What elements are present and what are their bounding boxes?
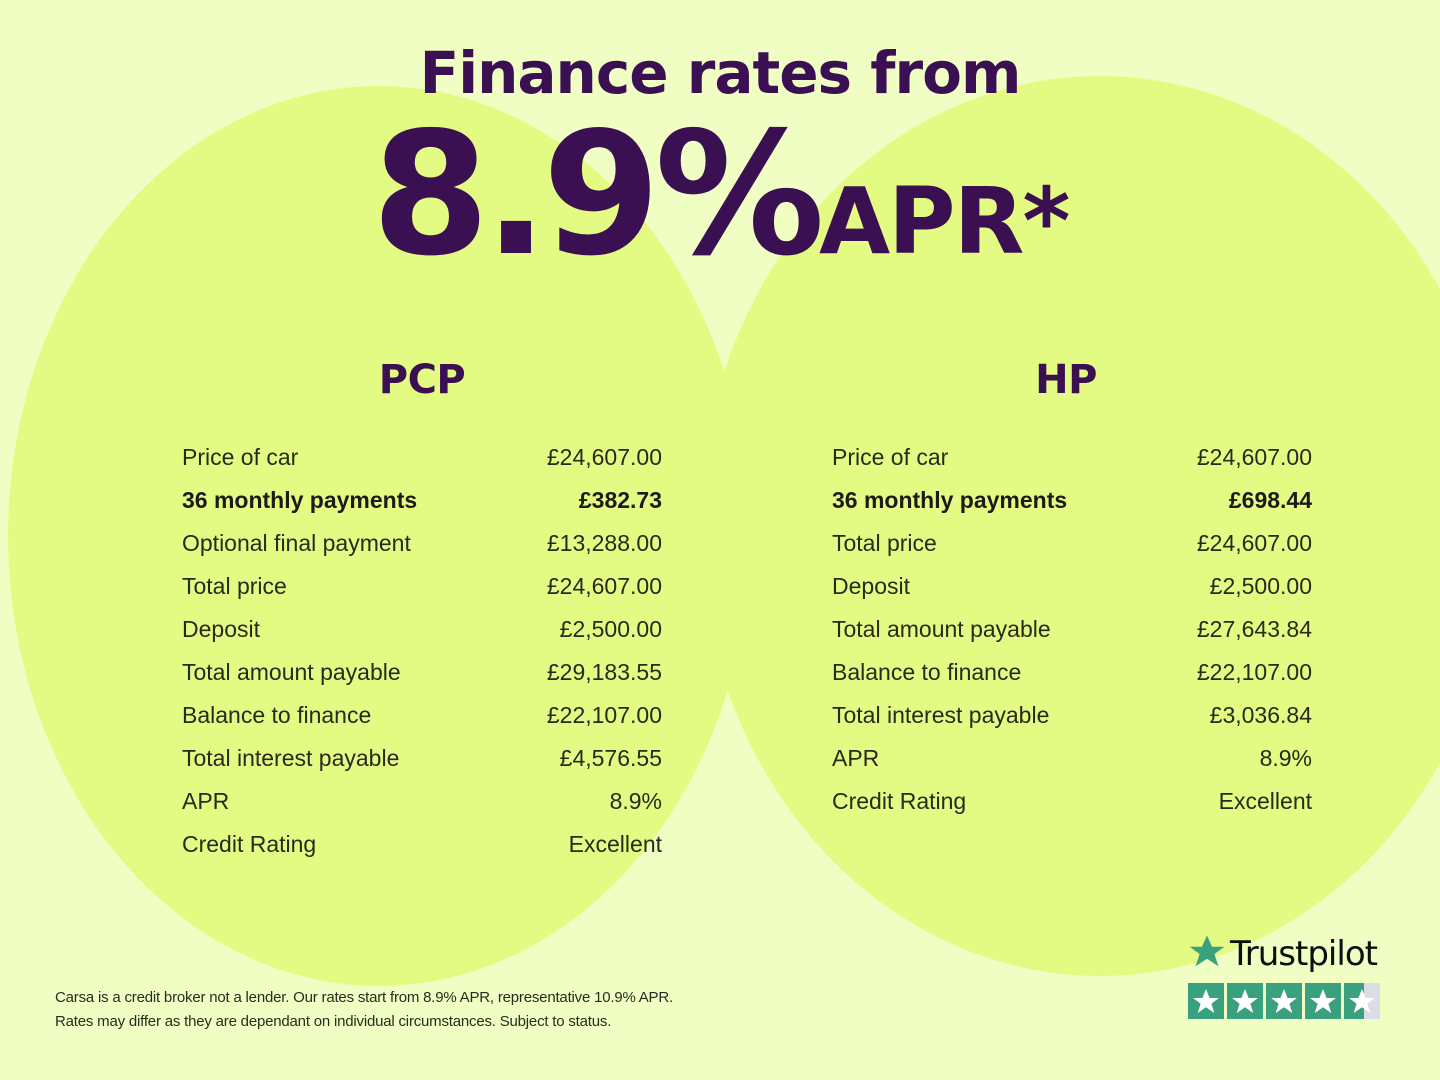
plan-title-hp: HP [832,360,1312,400]
row-value: £29,183.55 [547,661,662,684]
row-label: Deposit [832,575,910,598]
row-label: Balance to finance [182,704,371,727]
trustpilot-star-rating [1188,983,1392,1019]
row-label: Total amount payable [182,661,401,684]
row-value: £2,500.00 [560,618,662,641]
row-value: £13,288.00 [547,532,662,555]
row-value: 8.9% [1260,747,1312,770]
table-row: 36 monthly payments£698.44 [832,489,1312,532]
table-row: Balance to finance£22,107.00 [182,704,662,747]
table-row: Balance to finance£22,107.00 [832,661,1312,704]
table-row: Optional final payment£13,288.00 [182,532,662,575]
trustpilot-star-icon-5 [1344,983,1380,1019]
table-row: Price of car£24,607.00 [832,446,1312,489]
row-value: Excellent [569,833,662,856]
row-value: £698.44 [1229,489,1312,512]
plan-rows-pcp: Price of car£24,607.0036 monthly payment… [182,446,662,876]
row-value: £27,643.84 [1197,618,1312,641]
trustpilot-star-icon-2 [1227,983,1263,1019]
row-value: 8.9% [610,790,662,813]
row-label: APR [832,747,879,770]
table-row: 36 monthly payments£382.73 [182,489,662,532]
table-row: Credit RatingExcellent [182,833,662,876]
row-label: Balance to finance [832,661,1021,684]
plan-column-pcp: PCP Price of car£24,607.0036 monthly pay… [0,360,720,876]
trustpilot-star-icon-1 [1188,983,1224,1019]
table-row: Total amount payable£29,183.55 [182,661,662,704]
disclaimer-text: Carsa is a credit broker not a lender. O… [55,986,815,1035]
table-row: Deposit£2,500.00 [182,618,662,661]
poster-canvas: Finance rates from 8.9%APR* PCP Price of… [0,0,1440,1080]
trustpilot-star-icon-3 [1266,983,1302,1019]
row-label: APR [182,790,229,813]
row-label: Total amount payable [832,618,1051,641]
table-row: APR8.9% [832,747,1312,790]
row-value: £4,576.55 [560,747,662,770]
table-row: Credit RatingExcellent [832,790,1312,833]
table-row: Total price£24,607.00 [832,532,1312,575]
row-label: 36 monthly payments [832,489,1067,512]
row-label: Deposit [182,618,260,641]
rate-value: 8.9% [371,96,818,294]
row-value: £24,607.00 [547,575,662,598]
trustpilot-star-icon [1188,933,1226,976]
row-value: £3,036.84 [1210,704,1312,727]
row-value: £22,107.00 [1197,661,1312,684]
row-label: 36 monthly payments [182,489,417,512]
row-label: Total interest payable [832,704,1049,727]
table-row: Deposit£2,500.00 [832,575,1312,618]
row-value: £22,107.00 [547,704,662,727]
row-label: Optional final payment [182,532,411,555]
row-label: Credit Rating [832,790,966,813]
row-value: £24,607.00 [1197,446,1312,469]
row-label: Price of car [832,446,948,469]
table-row: Total amount payable£27,643.84 [832,618,1312,661]
disclaimer-line-1: Carsa is a credit broker not a lender. O… [55,986,815,1010]
plan-rows-hp: Price of car£24,607.0036 monthly payment… [832,446,1312,833]
disclaimer-line-2: Rates may differ as they are dependant o… [55,1010,815,1034]
table-row: Price of car£24,607.00 [182,446,662,489]
row-label: Total price [182,575,287,598]
table-row: Total interest payable£4,576.55 [182,747,662,790]
plan-comparison: PCP Price of car£24,607.0036 monthly pay… [0,360,1440,876]
table-row: APR8.9% [182,790,662,833]
row-label: Total interest payable [182,747,399,770]
row-value: £24,607.00 [547,446,662,469]
page-title: Finance rates from [0,0,1440,102]
row-value: Excellent [1219,790,1312,813]
trustpilot-wordmark: Trustpilot [1230,937,1377,971]
row-label: Price of car [182,446,298,469]
row-label: Total price [832,532,937,555]
rate-line: 8.9%APR* [0,110,1440,280]
row-value: £24,607.00 [1197,532,1312,555]
row-value: £2,500.00 [1210,575,1312,598]
table-row: Total interest payable£3,036.84 [832,704,1312,747]
plan-column-hp: HP Price of car£24,607.0036 monthly paym… [720,360,1440,876]
headline-block: Finance rates from 8.9%APR* [0,0,1440,280]
plan-title-pcp: PCP [182,360,662,400]
row-label: Credit Rating [182,833,316,856]
trustpilot-logo: Trustpilot [1188,934,1392,974]
trustpilot-star-icon-4 [1305,983,1341,1019]
trustpilot-badge[interactable]: Trustpilot [1188,934,1392,1019]
rate-suffix: APR* [819,168,1069,275]
table-row: Total price£24,607.00 [182,575,662,618]
row-value: £382.73 [579,489,662,512]
